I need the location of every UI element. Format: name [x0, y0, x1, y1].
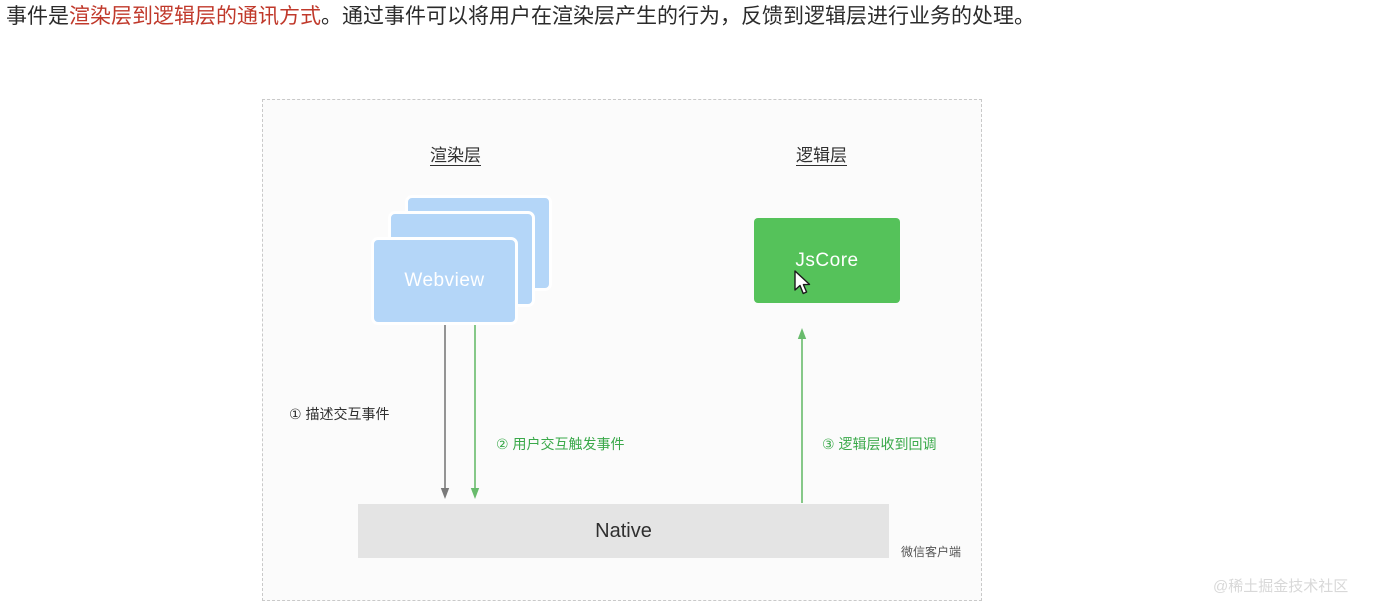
site-watermark: @稀土掘金技术社区 [1213, 575, 1348, 596]
step-label-3: ③ 逻辑层收到回调 [822, 434, 936, 454]
step-3-number: ③ [822, 436, 835, 452]
arrow-describe-event [439, 325, 451, 501]
mouse-cursor-icon [794, 270, 814, 296]
step-1-text: 描述交互事件 [305, 406, 389, 422]
native-bar[interactable]: Native [358, 504, 889, 558]
caption-text-before: 事件是 [6, 5, 69, 28]
step-2-number: ② [496, 436, 509, 452]
step-1-number: ① [289, 406, 302, 422]
caption-text-after: 。通过事件可以将用户在渲染层产生的行为，反馈到逻辑层进行业务的处理。 [321, 5, 1035, 28]
webview-card-front[interactable]: Webview [371, 237, 518, 325]
step-2-text: 用户交互触发事件 [512, 436, 624, 452]
arrow-callback-event [796, 327, 808, 503]
caption-text-highlight: 渲染层到逻辑层的通讯方式 [69, 5, 321, 28]
native-label: Native [595, 520, 652, 543]
wechat-client-caption: 微信客户端 [901, 543, 961, 560]
logic-layer-title: 逻辑层 [796, 141, 847, 166]
webview-label: Webview [404, 270, 484, 292]
arrow-trigger-event [469, 325, 481, 501]
architecture-diagram: 渲染层 逻辑层 Webview JsCore ① 描述交互事件 ② 用户交互触发… [262, 99, 982, 601]
step-label-1: ① 描述交互事件 [289, 404, 389, 424]
jscore-box[interactable]: JsCore [754, 218, 900, 303]
step-3-text: 逻辑层收到回调 [838, 436, 936, 452]
page-caption: 事件是渲染层到逻辑层的通讯方式。通过事件可以将用户在渲染层产生的行为，反馈到逻辑… [6, 2, 1384, 32]
jscore-label: JsCore [795, 250, 858, 272]
render-layer-title: 渲染层 [430, 141, 481, 166]
step-label-2: ② 用户交互触发事件 [496, 434, 624, 454]
